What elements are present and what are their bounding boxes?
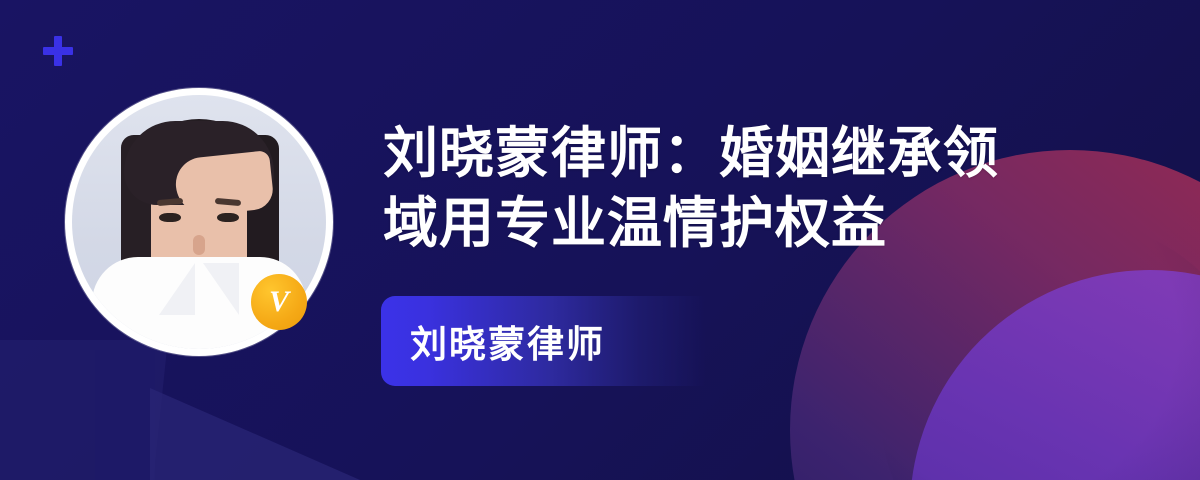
promo-banner: V 刘晓蒙律师：婚姻继承领 域用专业温情护权益 刘晓蒙律师 — [0, 0, 1200, 480]
avatar: V — [65, 88, 333, 356]
portrait-fringe — [124, 121, 274, 205]
lawyer-name-button[interactable]: 刘晓蒙律师 — [381, 296, 706, 386]
portrait-collar-right — [203, 263, 239, 315]
plus-icon — [43, 36, 73, 66]
portrait-nose — [193, 235, 205, 255]
decorative-triangle — [150, 388, 360, 480]
portrait-eye-left — [159, 213, 181, 222]
decorative-band — [95, 350, 155, 480]
page-title: 刘晓蒙律师：婚姻继承领 域用专业温情护权益 — [383, 118, 1083, 258]
portrait-eye-right — [217, 213, 239, 222]
verified-badge-icon: V — [251, 274, 307, 330]
portrait-collar-left — [159, 263, 195, 315]
